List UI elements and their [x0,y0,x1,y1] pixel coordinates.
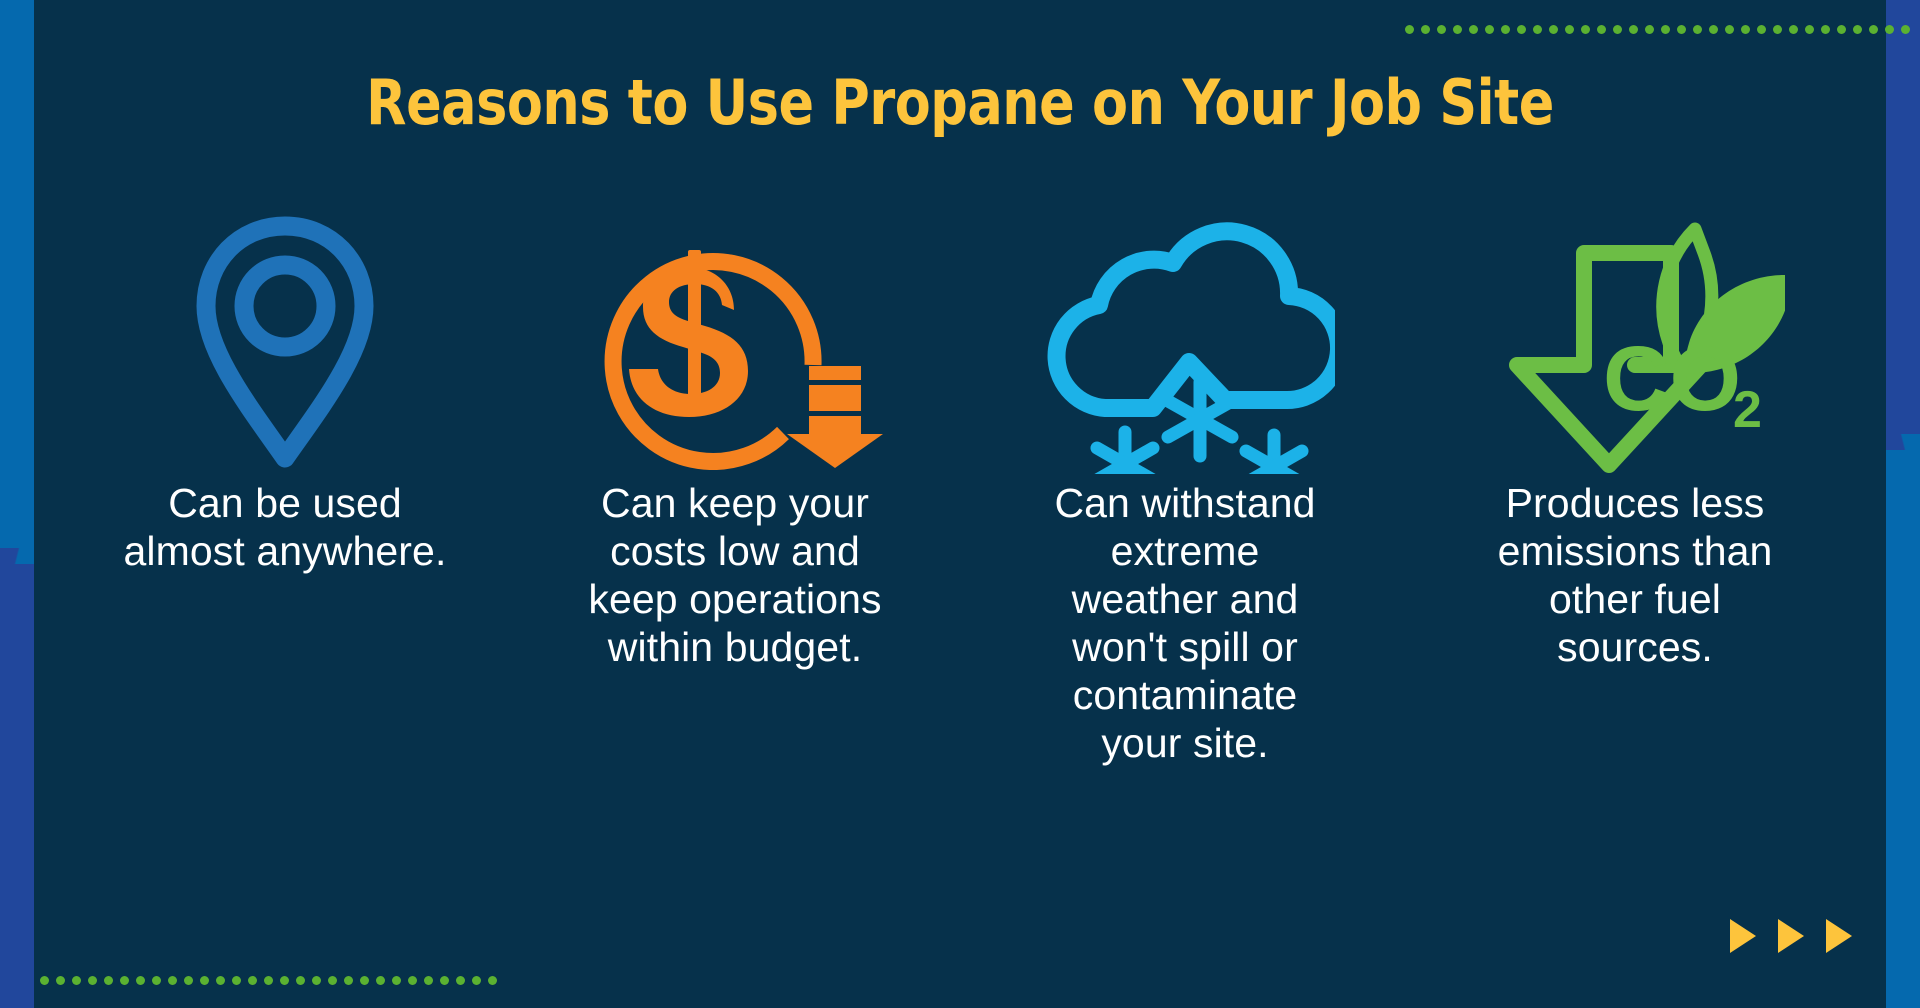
rule-dot [88,976,97,985]
rule-dot [1885,25,1894,34]
rule-dot [344,976,353,985]
right-strip-upper [1886,0,1920,443]
rule-dot [1405,25,1414,34]
rule-dot [184,976,193,985]
rule-dot [1677,25,1686,34]
co2-subscript: 2 [1733,381,1762,439]
rule-dot [1581,25,1590,34]
rule-dot [1645,25,1654,34]
rule-dot [1533,25,1542,34]
play-triangle-icon [1826,919,1852,953]
rule-dot [232,976,241,985]
rule-dot [1773,25,1782,34]
rule-dot [440,976,449,985]
dotted-rule-top-right [1405,25,1910,35]
rule-dot [1469,25,1478,34]
co2-label: CO [1603,328,1741,430]
rule-dot [424,976,433,985]
right-strip-lower [1886,443,1920,1008]
left-strip-upper [0,0,34,560]
rule-dot [1869,25,1878,34]
rule-dot [264,976,273,985]
rule-dot [40,976,49,985]
rule-dot [296,976,305,985]
right-strip-seam [1886,434,1920,450]
rule-dot [1853,25,1862,34]
benefit-caption: Can be used almost anywhere. [105,480,465,576]
rule-dot [408,976,417,985]
left-strip-lower [0,560,34,1008]
rule-dot [248,976,257,985]
benefit-item: Can keep your costs low and keep operati… [510,205,960,672]
left-edge-strip [0,0,34,1008]
rule-dot [152,976,161,985]
rule-dot [488,976,497,985]
rule-dot [312,976,321,985]
rule-dot [120,976,129,985]
rule-dot [1789,25,1798,34]
benefit-caption: Can keep your costs low and keep operati… [560,480,910,672]
rule-dot [1501,25,1510,34]
rule-dot [104,976,113,985]
rule-dot [360,976,369,985]
rule-dot [1549,25,1558,34]
play-triangle-icon [1730,919,1756,953]
benefit-caption: Can withstand extreme weather and won't … [1025,480,1345,768]
rule-dot [1485,25,1494,34]
benefits-row: Can be used almost anywhere. [60,205,1860,768]
rule-dot [72,976,81,985]
benefit-item: Can withstand extreme weather and won't … [960,205,1410,768]
benefit-item: CO 2 Produces less emissions than other … [1410,205,1860,672]
rule-dot [1837,25,1846,34]
rule-dot [200,976,209,985]
rule-dot [1629,25,1638,34]
rule-dot [1725,25,1734,34]
rule-dot [472,976,481,985]
rule-dot [280,976,289,985]
arrow-triangle-group [1730,919,1852,953]
cost-down-icon [585,205,885,480]
right-edge-strip [1886,0,1920,1008]
rule-dot [1805,25,1814,34]
snow-cloud-icon [1035,205,1335,480]
rule-dot [1597,25,1606,34]
rule-dot [1453,25,1462,34]
rule-dot [136,976,145,985]
rule-dot [1421,25,1430,34]
rule-dot [1821,25,1830,34]
rule-dot [1757,25,1766,34]
rule-dot [456,976,465,985]
rule-dot [1613,25,1622,34]
rule-dot [1741,25,1750,34]
rule-dot [1901,25,1910,34]
rule-dot [216,976,225,985]
rule-dot [1661,25,1670,34]
rule-dot [1517,25,1526,34]
left-strip-seam [0,548,34,564]
rule-dot [1709,25,1718,34]
page-title: Reasons to Use Propane on Your Job Site [58,66,1863,139]
rule-dot [328,976,337,985]
rule-dot [392,976,401,985]
dotted-rule-bottom-left [40,976,497,986]
rule-dot [1565,25,1574,34]
rule-dot [56,976,65,985]
play-triangle-icon [1778,919,1804,953]
benefit-caption: Produces less emissions than other fuel … [1463,480,1808,672]
map-pin-icon [192,205,378,480]
rule-dot [1693,25,1702,34]
co2-down-leaf-icon: CO 2 [1485,205,1785,480]
benefit-item: Can be used almost anywhere. [60,205,510,576]
rule-dot [168,976,177,985]
rule-dot [1437,25,1446,34]
rule-dot [376,976,385,985]
